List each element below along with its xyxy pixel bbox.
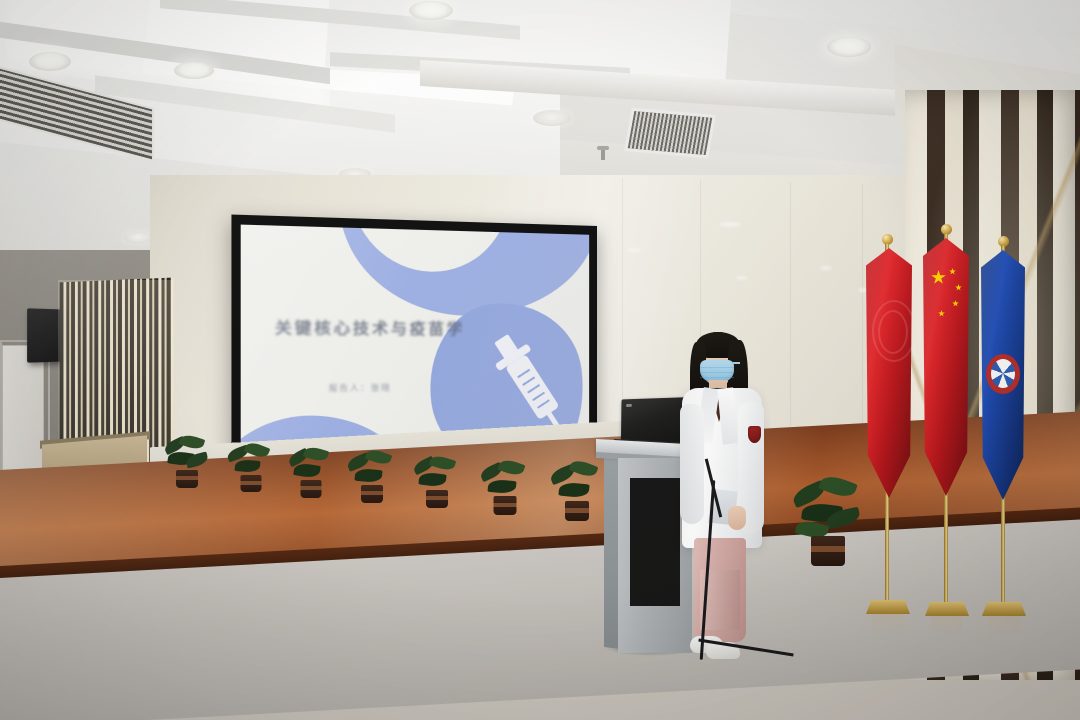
- wall-light-reflection: [719, 222, 741, 227]
- pot-band: [176, 476, 198, 480]
- flag-shading: [866, 248, 912, 498]
- wall-light-reflection: [736, 276, 748, 280]
- leaf: [429, 453, 456, 472]
- pot-band: [494, 503, 517, 507]
- wall-seam: [862, 184, 863, 454]
- hvac-grille: [624, 108, 716, 159]
- wall-seam: [790, 182, 791, 462]
- potted-plant: [410, 455, 464, 511]
- flag-base: [982, 602, 1026, 616]
- flag-base: [866, 600, 910, 614]
- hand: [728, 506, 746, 530]
- recessed-downlight: [827, 37, 871, 57]
- flag-emblem-blue-wheel: [991, 359, 1015, 388]
- recessed-downlight: [533, 110, 571, 126]
- flag-emblem-red-inner: [878, 310, 908, 354]
- sprinkler-head: [601, 149, 605, 160]
- leaf: [558, 481, 589, 498]
- recessed-downlight: [174, 62, 214, 79]
- pot-band: [811, 546, 845, 552]
- potted-plant: [790, 478, 866, 574]
- pot-band: [361, 491, 383, 495]
- presenter: [676, 330, 772, 690]
- potted-plant: [345, 450, 399, 506]
- potted-plant: [160, 436, 214, 492]
- flag-base-reflection: [872, 614, 904, 634]
- leaf: [244, 440, 271, 460]
- flag-shading: [923, 238, 969, 496]
- potted-plant: [225, 442, 277, 496]
- wall-light-reflection: [820, 266, 832, 270]
- recessed-downlight: [29, 52, 71, 71]
- recessed-downlight: [124, 232, 152, 243]
- slide-subtitle: 报告人：张晓: [329, 382, 458, 394]
- shoulder-patch: [748, 426, 761, 443]
- pot-band: [426, 496, 448, 500]
- leaf: [418, 471, 446, 487]
- leaf: [179, 433, 206, 452]
- conference-hall-photo: 关键核心技术与疫苗学 报告人：张晓: [0, 0, 1080, 720]
- potted-plant: [478, 460, 532, 518]
- flag-base-reflection: [931, 616, 963, 636]
- flag-base-reflection: [988, 616, 1020, 636]
- leaf: [235, 459, 261, 473]
- potted-plant: [548, 462, 606, 524]
- leaf: [498, 457, 526, 477]
- laptop-logo: [626, 404, 632, 407]
- flag-base: [925, 602, 969, 616]
- arm-left: [680, 404, 704, 524]
- pot-band: [565, 508, 589, 513]
- pot-band: [301, 486, 322, 490]
- slide-title: 关键核心技术与疫苗学: [275, 316, 491, 340]
- leaf: [365, 447, 393, 467]
- mask-ear-loop: [733, 362, 740, 364]
- mask-pleats: [700, 366, 734, 378]
- wall-light-reflection: [627, 248, 641, 252]
- pot-band: [241, 481, 262, 485]
- leaf: [354, 468, 382, 484]
- leaf: [487, 479, 516, 494]
- leaf: [303, 445, 329, 463]
- potted-plant: [285, 447, 337, 501]
- leaf: [293, 462, 321, 479]
- recessed-downlight: [409, 1, 453, 20]
- podium-front-panel: [630, 478, 680, 606]
